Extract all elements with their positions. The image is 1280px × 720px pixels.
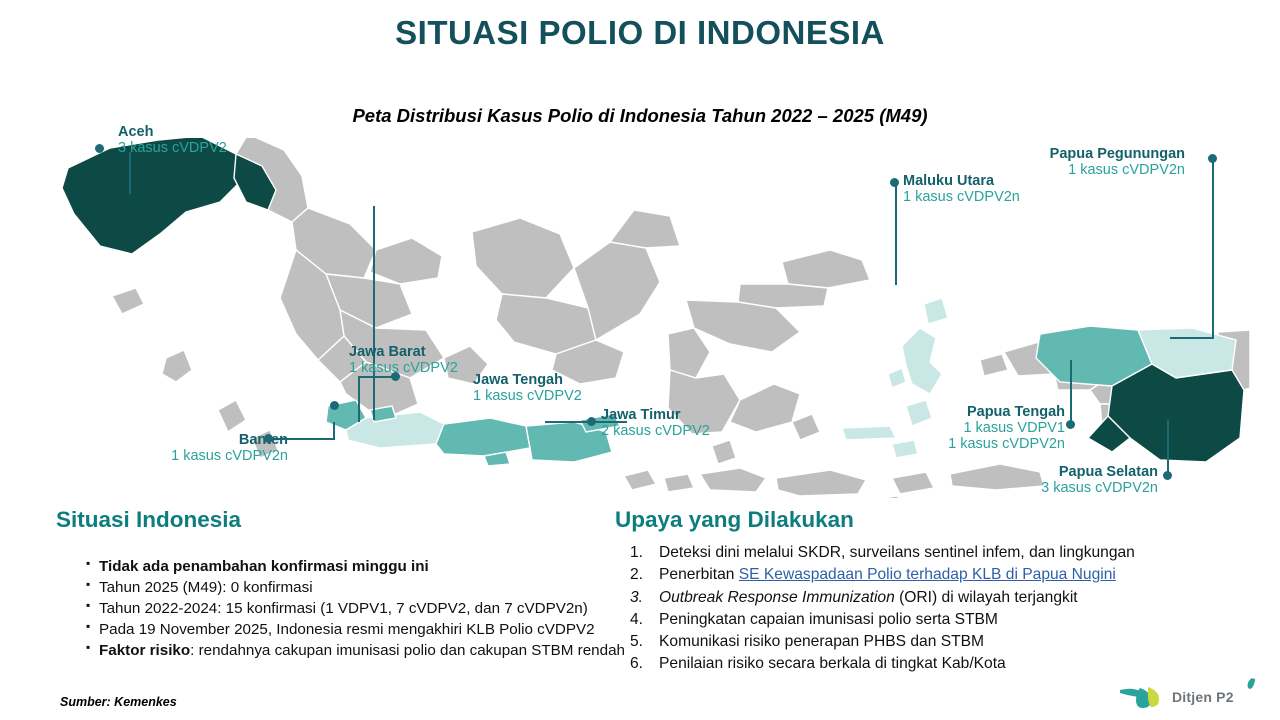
island-buton	[792, 414, 820, 440]
upaya-item-text: (ORI) di wilayah terjangkit	[895, 589, 1078, 606]
dot-jawa-barat	[330, 401, 339, 410]
upaya-item-6: 6. Penilaian risiko secara berkala di ti…	[617, 653, 1237, 674]
province-kalut	[610, 210, 680, 248]
leader-papua-pegunungan	[1212, 160, 1214, 338]
province-maluku-utara-halmahera	[902, 328, 942, 394]
callout-papua-pegunungan: Papua Pegunungan 1 kasus cVDPV2n	[1000, 146, 1185, 178]
callout-name: Jawa Timur	[601, 407, 710, 423]
province-sultra	[730, 384, 800, 432]
province-maluku-buru	[892, 472, 934, 494]
province-maluku-utara-ternate	[888, 368, 906, 388]
dot-maluku-utara	[890, 178, 899, 187]
situasi-item-4: Pada 19 November 2025, Indonesia resmi m…	[86, 620, 656, 640]
callout-cases: 1 kasus cVDPV2n	[1000, 162, 1185, 178]
upaya-item-4: 4. Peningkatan capaian imunisasi polio s…	[617, 609, 1237, 630]
dot-aceh	[95, 144, 104, 153]
ditjen-p2-logo: Ditjen P2	[1118, 682, 1258, 716]
province-sulut	[782, 250, 870, 288]
upaya-item-number: 5.	[617, 631, 643, 652]
callout-cases: 3 kasus cVDPV2n	[990, 480, 1158, 496]
callout-jawa-barat: Jawa Barat 1 kasus cVDPV2	[349, 344, 458, 376]
island-flores	[776, 470, 866, 496]
callout-cases: 2 kasus cVDPV2	[601, 423, 710, 439]
leader-jawa-tengah	[358, 376, 360, 422]
province-papua-raja-ampat	[980, 354, 1008, 376]
situasi-item-2: Tahun 2025 (M49): 0 konfirmasi	[86, 578, 656, 598]
province-sulbar	[668, 328, 710, 378]
situasi-list: Tidak ada penambahan konfirmasi minggu i…	[46, 557, 656, 662]
upaya-item-text: Penerbitan	[659, 566, 739, 583]
upaya-item-number: 1.	[617, 542, 643, 563]
leader-jawa-barat	[373, 206, 375, 420]
callout-cases: 1 kasus cVDPV2	[473, 388, 582, 404]
page-title: SITUASI POLIO DI INDONESIA	[0, 14, 1280, 52]
upaya-item-emphasis: Outbreak Response Immunization	[659, 589, 895, 606]
slide-root: SITUASI POLIO DI INDONESIA Peta Distribu…	[0, 0, 1280, 720]
source-note: Sumber: Kemenkes	[60, 695, 177, 709]
logo-text: Ditjen P2	[1172, 689, 1234, 705]
dot-banten	[264, 434, 273, 443]
callout-cases: 3 kasus cVDPV2	[118, 140, 227, 156]
se-kewaspadaan-link[interactable]: SE Kewaspadaan Polio terhadap KLB di Pap…	[739, 566, 1116, 583]
dot-papua-selatan	[1163, 471, 1172, 480]
dot-papua-pegunungan	[1208, 154, 1217, 163]
upaya-item-1: 1. Deteksi dini melalui SKDR, surveilans…	[617, 542, 1237, 563]
province-kalbar	[472, 218, 574, 298]
upaya-item-number: 4.	[617, 609, 643, 630]
callout-cases: 1 kasus cVDPV2n	[903, 189, 1020, 205]
upaya-item-text: Deteksi dini melalui SKDR, surveilans se…	[659, 544, 1135, 561]
situasi-item-text: Tahun 2025 (M49): 0 konfirmasi	[99, 579, 313, 596]
leader-papua-selatan	[1167, 420, 1169, 472]
province-jawa-tengah	[436, 418, 530, 456]
callout-cases: 1 kasus VDPV1	[900, 420, 1065, 436]
dot-papua-tengah	[1066, 420, 1075, 429]
upaya-item-text: Peningkatan capaian imunisasi polio sert…	[659, 611, 998, 628]
upaya-item-5: 5. Komunikasi risiko penerapan PHBS dan …	[617, 631, 1237, 652]
province-maluku-utara-morotai	[924, 298, 948, 324]
situasi-item-text: : rendahnya cakupan imunisasi polio dan …	[190, 642, 625, 659]
island-nias	[162, 350, 192, 382]
callout-name: Papua Selatan	[990, 464, 1158, 480]
upaya-list: 1. Deteksi dini melalui SKDR, surveilans…	[617, 542, 1237, 676]
situasi-item-5: Faktor risiko: rendahnya cakupan imunisa…	[86, 641, 656, 661]
callout-jawa-timur: Jawa Timur 2 kasus cVDPV2	[601, 407, 710, 439]
island-bali	[624, 470, 656, 490]
callout-cases: 1 kasus cVDPV2	[349, 360, 458, 376]
province-papua-selatan	[1108, 364, 1244, 462]
situasi-item-text: Tidak ada penambahan konfirmasi minggu i…	[99, 558, 429, 575]
callout-name: Papua Pegunungan	[1000, 146, 1185, 162]
callout-aceh: Aceh 3 kasus cVDPV2	[118, 124, 227, 156]
upaya-item-text: Komunikasi risiko penerapan PHBS dan STB…	[659, 633, 984, 650]
island-timor	[846, 496, 928, 498]
callout-papua-tengah: Papua Tengah 1 kasus VDPV1 1 kasus cVDPV…	[900, 404, 1065, 453]
province-maluku-utara-sula	[842, 426, 896, 440]
callout-name: Papua Tengah	[900, 404, 1065, 420]
upaya-item-number: 6.	[617, 653, 643, 674]
upaya-item-2: 2. Penerbitan SE Kewaspadaan Polio terha…	[617, 564, 1237, 585]
upaya-item-3: 3. Outbreak Response Immunization (ORI) …	[617, 587, 1237, 608]
droplet-icon	[1118, 684, 1164, 710]
logo-accent-icon	[1246, 677, 1255, 689]
situasi-heading: Situasi Indonesia	[56, 507, 241, 533]
island-simeulue	[112, 288, 144, 314]
upaya-heading: Upaya yang Dilakukan	[615, 507, 854, 533]
situasi-item-3: Tahun 2022-2024: 15 konfirmasi (1 VDPV1,…	[86, 599, 656, 619]
callout-papua-selatan: Papua Selatan 3 kasus cVDPV2n	[990, 464, 1158, 496]
leader-maluku-utara	[895, 180, 897, 285]
island-mentawai-1	[218, 400, 246, 432]
callout-name: Jawa Barat	[349, 344, 458, 360]
island-selayar	[712, 440, 736, 464]
callout-name: Aceh	[118, 124, 227, 140]
upaya-item-text: Penilaian risiko secara berkala di tingk…	[659, 655, 1006, 672]
callout-cases-2: 1 kasus cVDPV2n	[900, 436, 1065, 452]
leader-aceh	[129, 152, 131, 194]
island-sumbawa	[700, 468, 766, 492]
island-lombok	[664, 474, 694, 492]
dot-jawa-timur	[587, 417, 596, 426]
situasi-item-lead: Faktor risiko	[99, 642, 190, 659]
upaya-item-number: 2.	[617, 564, 643, 585]
callout-cases: 1 kasus cVDPV2n	[148, 448, 288, 464]
upaya-item-number: 3.	[617, 587, 643, 608]
callout-name: Jawa Tengah	[473, 372, 582, 388]
situasi-item-1: Tidak ada penambahan konfirmasi minggu i…	[86, 557, 656, 577]
situasi-item-text: Pada 19 November 2025, Indonesia resmi m…	[99, 621, 595, 638]
dot-jawa-tengah	[391, 372, 400, 381]
situasi-item-text: Tahun 2022-2024: 15 konfirmasi (1 VDPV1,…	[99, 600, 588, 617]
callout-jawa-tengah: Jawa Tengah 1 kasus cVDPV2	[473, 372, 582, 404]
province-riau-kep	[370, 238, 442, 284]
leader-papua-pegunungan-h	[1170, 337, 1214, 339]
leader-papua-tengah	[1070, 360, 1072, 422]
